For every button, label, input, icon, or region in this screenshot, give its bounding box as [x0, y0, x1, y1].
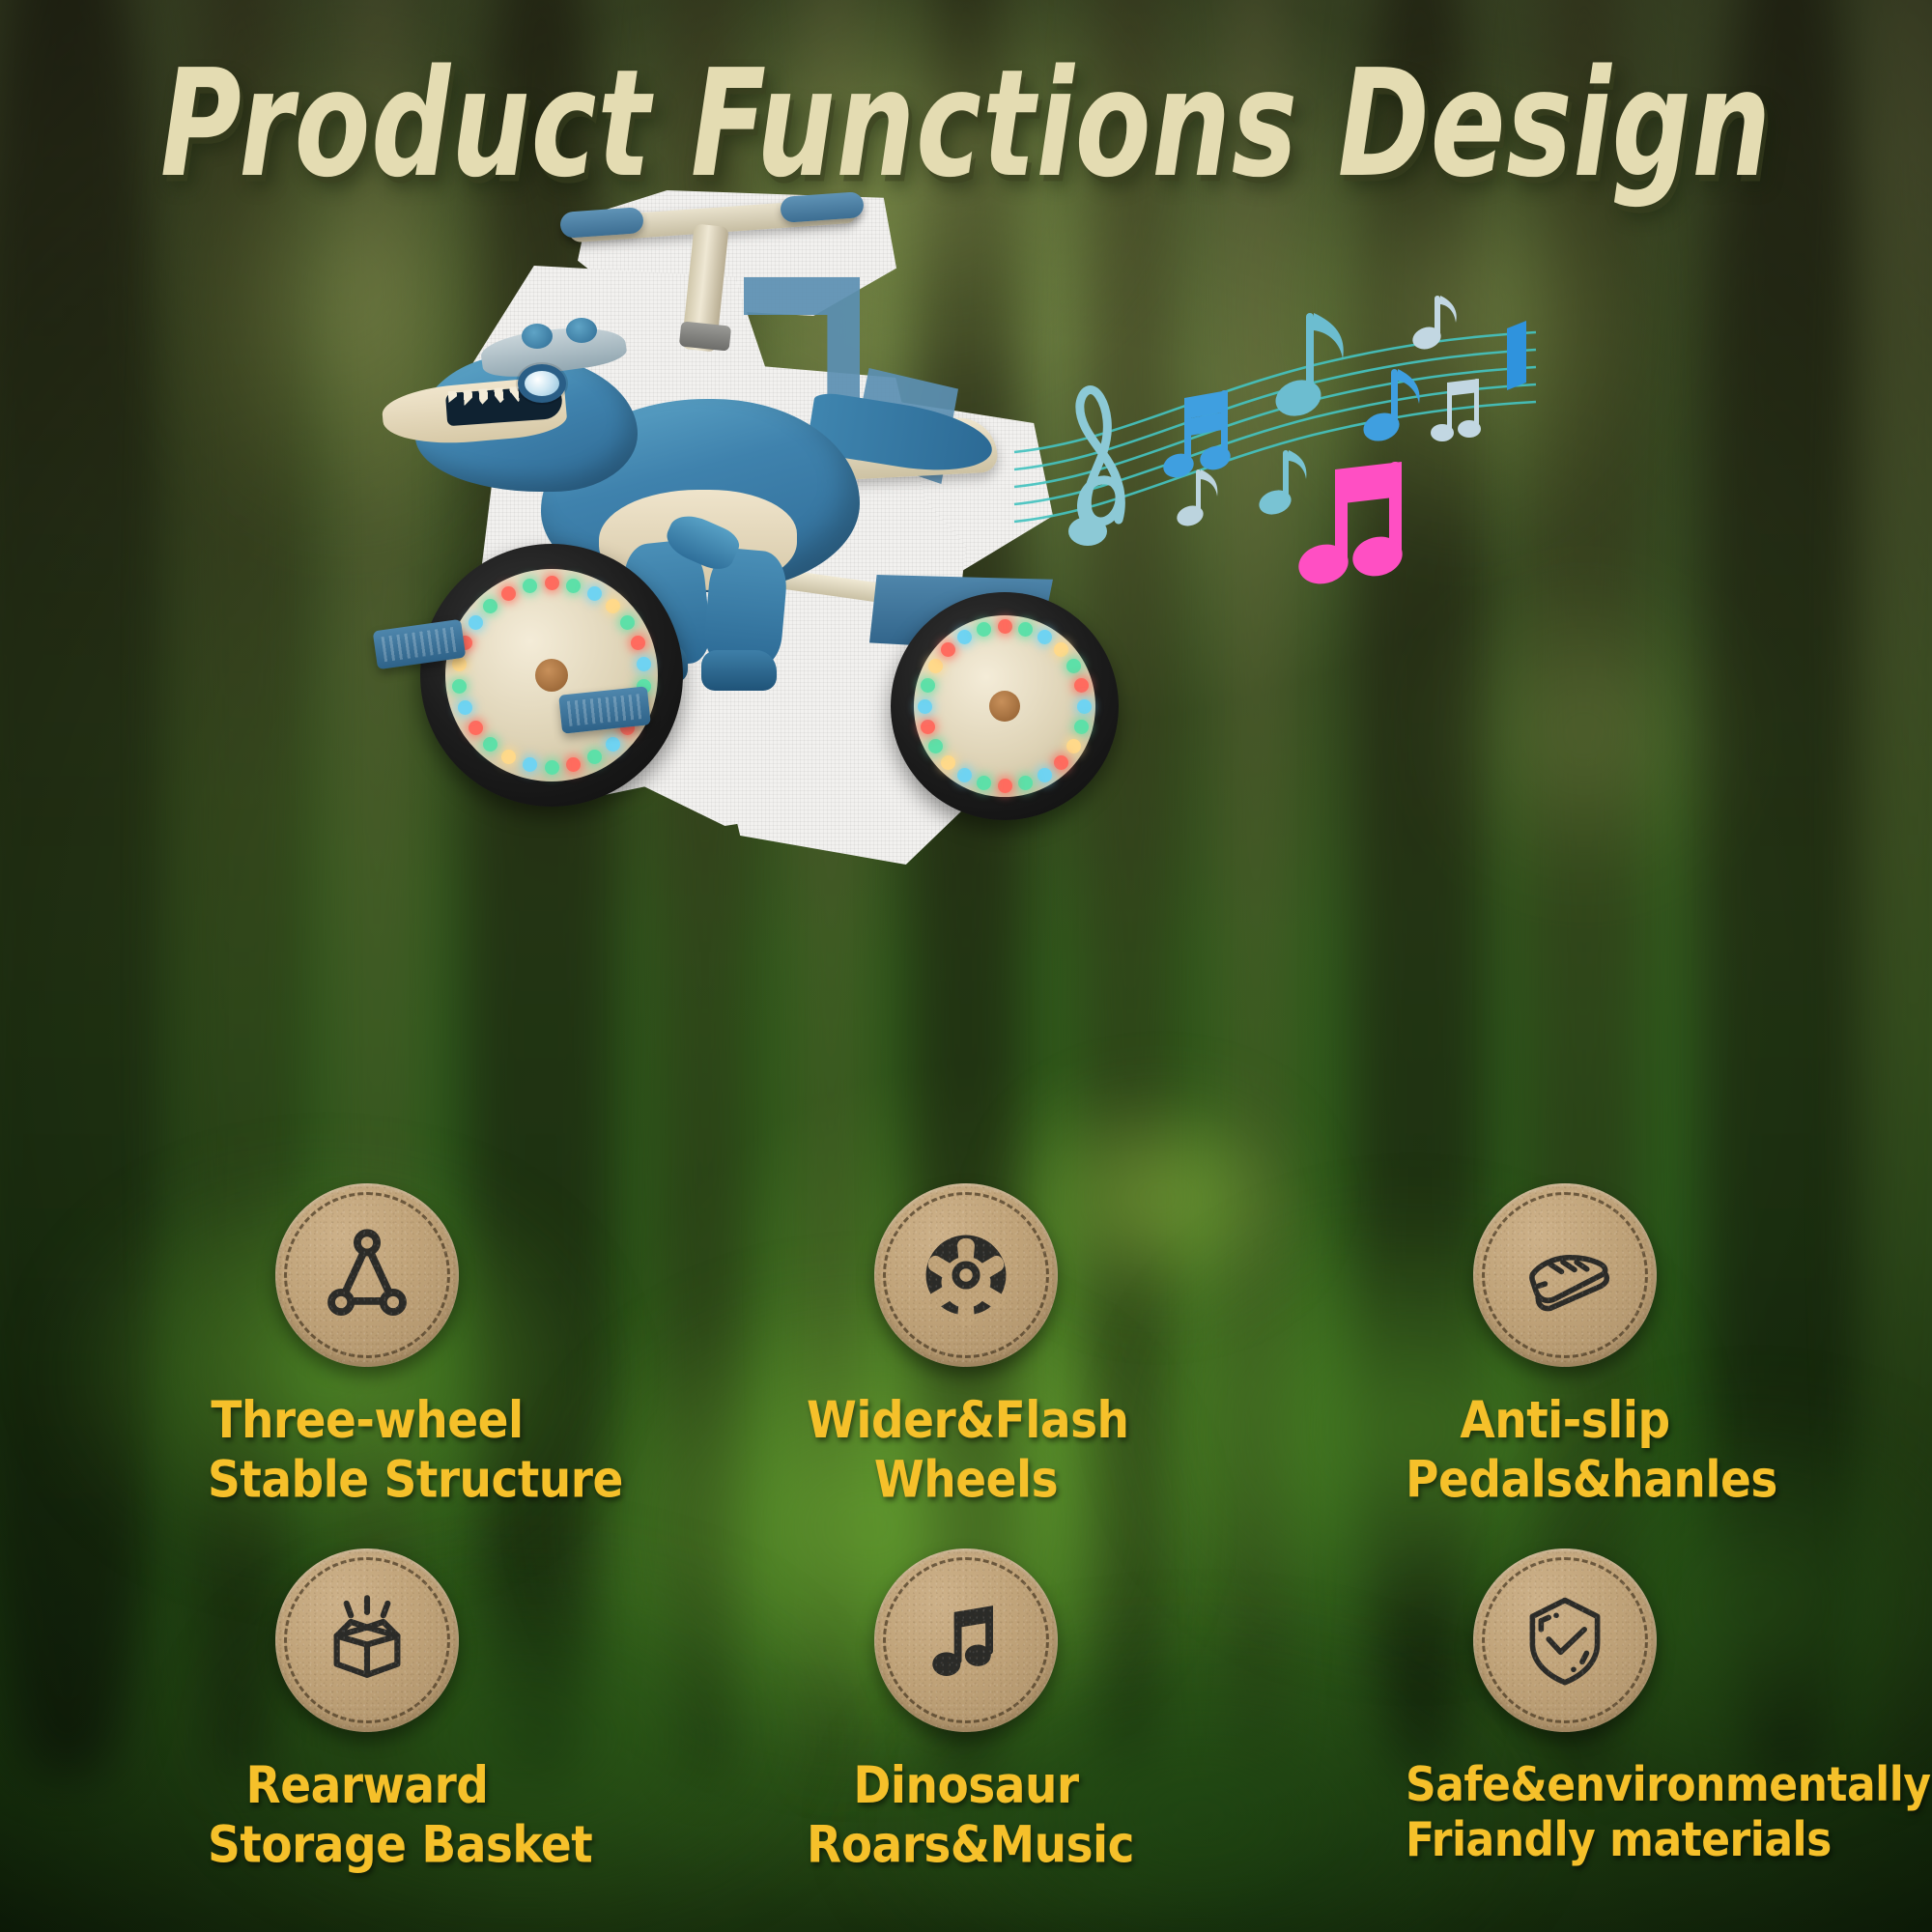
feature-label: Dinosaur Roars&Music: [807, 1757, 1125, 1875]
music-notes-graphic: [1024, 290, 1526, 599]
feature-label-line2: Pedals&hanles: [1406, 1451, 1724, 1510]
note-eighth-teal: [1271, 313, 1344, 422]
feature-label-line1: Wider&Flash: [807, 1391, 1129, 1451]
sneaker-icon: [1511, 1221, 1619, 1329]
feature-label-line1: Dinosaur: [853, 1756, 1078, 1816]
led-light: [606, 599, 620, 613]
feature-roars-music[interactable]: Dinosaur Roars&Music: [807, 1548, 1125, 1862]
led-light: [1054, 755, 1068, 770]
feature-label-line1: Anti-slip: [1460, 1391, 1669, 1451]
front-wheel: [420, 544, 683, 807]
product-image: [319, 169, 1111, 884]
dinosaur-eye: [518, 364, 566, 403]
led-light: [957, 630, 972, 644]
badge-flash-wheels[interactable]: [874, 1183, 1058, 1367]
feature-label: Rearward Storage Basket: [208, 1757, 526, 1875]
led-light: [620, 615, 635, 630]
led-light: [637, 657, 651, 671]
led-light: [501, 586, 516, 601]
wheel-axle: [989, 691, 1020, 722]
led-light: [1018, 776, 1033, 790]
led-light: [977, 776, 991, 790]
rear-wheel: [891, 592, 1119, 820]
note-eighth-midteal: [1256, 450, 1306, 519]
dinosaur-foot: [701, 650, 777, 691]
led-light: [1074, 720, 1089, 734]
feature-label: Anti-slip Pedals&hanles: [1406, 1392, 1724, 1510]
feature-label-line2: Wheels: [807, 1451, 1125, 1510]
feature-label-line2: Roars&Music: [807, 1816, 1125, 1875]
led-light: [587, 586, 602, 601]
led-light: [452, 679, 467, 694]
clef-note-head: [1068, 517, 1107, 546]
feature-storage-basket[interactable]: Rearward Storage Basket: [208, 1548, 526, 1862]
led-light: [1066, 659, 1081, 673]
led-light: [523, 579, 537, 593]
badge-anti-slip[interactable]: [1473, 1183, 1657, 1367]
led-light: [1037, 630, 1052, 644]
dinosaur-horn: [566, 318, 597, 343]
led-light: [483, 737, 497, 752]
led-light: [941, 755, 955, 770]
feature-row-1: Three-wheel Stable Structure Wider&Flash…: [0, 1183, 1932, 1497]
feature-label: Safe&environmentally Friandly materials: [1406, 1757, 1724, 1867]
feature-flash-wheels[interactable]: Wider&Flash Wheels: [807, 1183, 1125, 1497]
led-light: [606, 737, 620, 752]
led-light: [452, 657, 467, 671]
led-light: [566, 757, 581, 772]
led-light: [545, 576, 559, 590]
feature-label-line2: Friandly materials: [1406, 1812, 1724, 1867]
feature-label-line2: Stable Structure: [208, 1451, 526, 1510]
led-light: [1074, 678, 1089, 693]
led-light: [1037, 768, 1052, 782]
badge-three-wheel[interactable]: [275, 1183, 459, 1367]
led-light: [921, 720, 935, 734]
led-light: [941, 642, 955, 657]
led-light: [469, 721, 483, 735]
feature-label-line1: Rearward: [246, 1756, 489, 1816]
feature-grid: Three-wheel Stable Structure Wider&Flash…: [0, 1183, 1932, 1918]
feature-label-line1: Three-wheel: [211, 1391, 523, 1451]
led-light: [998, 779, 1012, 793]
note-beamed-magenta: [1294, 462, 1406, 589]
led-light: [918, 699, 932, 714]
led-light: [1066, 739, 1081, 753]
note-eighth-pale-2: [1409, 296, 1456, 353]
led-light: [566, 579, 581, 593]
badge-safe-materials[interactable]: [1473, 1548, 1657, 1732]
led-light: [1018, 622, 1033, 637]
badge-storage-basket[interactable]: [275, 1548, 459, 1732]
feature-label-line2: Storage Basket: [208, 1816, 526, 1875]
led-light: [928, 739, 943, 753]
led-light: [587, 750, 602, 764]
led-light: [998, 619, 1012, 634]
treble-clef-icon: [1080, 390, 1122, 529]
led-light: [523, 757, 537, 772]
product-functions-poster: Product Functions Design: [0, 0, 1932, 1932]
open-box-icon: [313, 1586, 421, 1694]
feature-row-2: Rearward Storage Basket: [0, 1548, 1932, 1862]
led-light: [501, 750, 516, 764]
wheel-axle: [535, 659, 568, 692]
note-accent-blue: [1507, 321, 1526, 390]
led-light: [1077, 699, 1092, 714]
led-light: [631, 636, 645, 650]
note-eighth-blue: [1360, 369, 1420, 445]
led-light: [483, 599, 497, 613]
feature-safe-materials[interactable]: Safe&environmentally Friandly materials: [1406, 1548, 1724, 1862]
wheel-icon: [912, 1221, 1020, 1329]
feature-label: Wider&Flash Wheels: [807, 1392, 1125, 1510]
note-eighth-pale: [1175, 469, 1218, 529]
led-light: [1054, 642, 1068, 657]
led-light: [928, 659, 943, 673]
led-light: [977, 622, 991, 637]
led-light: [921, 678, 935, 693]
badge-roars-music[interactable]: [874, 1548, 1058, 1732]
feature-three-wheel[interactable]: Three-wheel Stable Structure: [208, 1183, 526, 1497]
dinosaur-horn: [522, 324, 553, 349]
music-note-icon: [912, 1586, 1020, 1694]
led-light: [458, 700, 472, 715]
led-light: [469, 615, 483, 630]
triangle-nodes-icon: [313, 1221, 421, 1329]
feature-label: Three-wheel Stable Structure: [208, 1392, 526, 1510]
feature-anti-slip[interactable]: Anti-slip Pedals&hanles: [1406, 1183, 1724, 1497]
led-light: [545, 760, 559, 775]
feature-label-line1: Safe&environmentally: [1406, 1757, 1931, 1812]
shield-check-icon: [1511, 1586, 1619, 1694]
led-light: [957, 768, 972, 782]
